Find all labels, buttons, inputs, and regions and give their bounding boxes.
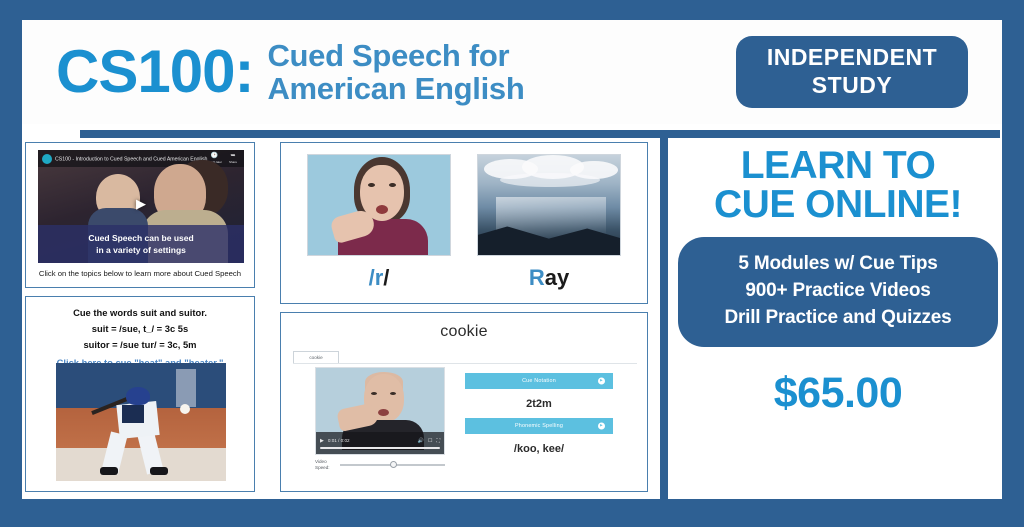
batter-shoe-left-shape bbox=[100, 467, 118, 475]
speed-label-line2: Speed: bbox=[315, 465, 337, 471]
phonemic-spelling-button[interactable]: Phonemic Spelling ▸ bbox=[465, 418, 613, 434]
fullscreen-icon[interactable]: ⛶ bbox=[436, 438, 440, 444]
badge-line1: INDEPENDENT bbox=[767, 44, 937, 72]
drill-line-1: Cue the words suit and suitor. bbox=[33, 305, 247, 321]
header-titles: CS100: Cued Speech for American English bbox=[56, 39, 525, 106]
phonemic-spelling-label: Phonemic Spelling bbox=[515, 423, 563, 429]
column-divider bbox=[660, 138, 668, 499]
word-label: Ray bbox=[477, 265, 621, 291]
cue-notation-label: Cue Notation bbox=[522, 378, 556, 384]
speed-slider-handle[interactable] bbox=[390, 461, 397, 468]
features-box: 5 Modules w/ Cue Tips 900+ Practice Vide… bbox=[678, 237, 998, 347]
header-divider bbox=[80, 130, 1000, 138]
drill-panel: Cue the words suit and suitor. suit = /s… bbox=[25, 296, 255, 492]
phonemic-spelling-answer: /koo, kee/ bbox=[465, 434, 613, 463]
speed-slider[interactable] bbox=[340, 464, 445, 466]
promo-headline-line2: CUE ONLINE! bbox=[674, 185, 1002, 224]
cookie-heading: cookie bbox=[281, 313, 647, 341]
drill-line-3: suitor = /sue tur/ = 3c, 5m bbox=[33, 337, 247, 353]
phoneme-pairs: /r/ Ray bbox=[281, 143, 647, 291]
cookie-answers: Cue Notation ▸ 2t2m Phonemic Spelling ▸ … bbox=[465, 367, 613, 470]
phoneme-label-rest: / bbox=[383, 265, 389, 290]
phoneme-example-panel: /r/ Ray bbox=[280, 142, 648, 304]
batter-helmet-shape bbox=[126, 387, 150, 405]
phoneme-label: /r/ bbox=[307, 265, 451, 291]
intro-video-hint: Click on the topics below to learn more … bbox=[26, 269, 254, 278]
cuer-mouth-shape bbox=[378, 409, 389, 416]
course-name-line1: Cued Speech for bbox=[267, 39, 524, 72]
cookie-body: ▶ 0:01 / 0:02 🔊 ☐ ⛶ bbox=[281, 367, 647, 470]
cloud-shape bbox=[500, 173, 600, 187]
word-label-rest: ay bbox=[545, 265, 569, 290]
course-code: CS100: bbox=[56, 42, 253, 102]
video-player-cookie[interactable]: ▶ 0:01 / 0:02 🔊 ☐ ⛶ bbox=[315, 367, 445, 455]
volume-icon[interactable]: 🔊 bbox=[418, 438, 424, 444]
video-timestamp: 0:01 / 0:02 bbox=[328, 438, 350, 443]
chevron-right-icon: ▸ bbox=[598, 423, 605, 430]
video-title: CS100 - Introduction to Cued Speech and … bbox=[55, 156, 244, 162]
inner-canvas: CS100: Cued Speech for American English … bbox=[22, 20, 1002, 499]
cuer-eye-right-shape bbox=[389, 183, 396, 187]
promo-headline-line1: LEARN TO bbox=[674, 146, 1002, 185]
feature-item: 5 Modules w/ Cue Tips bbox=[684, 251, 992, 278]
phoneme-label-accent: /r bbox=[369, 265, 384, 290]
drill-text-block: Cue the words suit and suitor. suit = /s… bbox=[26, 297, 254, 368]
video-controls[interactable]: ▶ 0:01 / 0:02 🔊 ☐ ⛶ bbox=[316, 432, 444, 454]
body-region: CS100 - Introduction to Cued Speech and … bbox=[22, 138, 1002, 499]
video-speed-control: Video Speed: bbox=[315, 459, 445, 470]
play-icon[interactable]: ▶ bbox=[136, 196, 146, 212]
phoneme-pair-item: Ray bbox=[477, 154, 621, 291]
baseball-shape bbox=[180, 404, 190, 414]
header: CS100: Cued Speech for American English … bbox=[22, 20, 1002, 124]
caption-line1: Cued Speech can be used bbox=[88, 232, 193, 244]
promo-card: CS100: Cued Speech for American English … bbox=[0, 0, 1024, 527]
cuer-eye-left-shape bbox=[371, 392, 377, 395]
cookie-video-wrap: ▶ 0:01 / 0:02 🔊 ☐ ⛶ bbox=[315, 367, 445, 470]
promo-headline: LEARN TO CUE ONLINE! bbox=[674, 138, 1002, 224]
independent-study-badge: INDEPENDENT STUDY bbox=[736, 36, 968, 108]
cookie-practice-panel: cookie cookie bbox=[280, 312, 648, 492]
video-control-row: ▶ 0:01 / 0:02 🔊 ☐ ⛶ bbox=[320, 438, 440, 444]
promo-column: LEARN TO CUE ONLINE! 5 Modules w/ Cue Ti… bbox=[674, 138, 1002, 499]
course-name-line2: American English bbox=[267, 72, 524, 105]
chevron-right-icon: ▸ bbox=[598, 378, 605, 385]
price-tag: $65.00 bbox=[674, 369, 1002, 418]
sun-rays-photo bbox=[477, 154, 621, 256]
video-caption: Cued Speech can be used in a variety of … bbox=[38, 225, 244, 263]
intro-video-panel: CS100 - Introduction to Cued Speech and … bbox=[25, 142, 255, 288]
word-label-accent: R bbox=[529, 265, 545, 290]
batter-shoe-right-shape bbox=[150, 467, 168, 475]
tab-underline bbox=[293, 363, 637, 364]
cue-notation-answer: 2t2m bbox=[465, 389, 613, 418]
course-name: Cued Speech for American English bbox=[267, 39, 524, 106]
feature-item: 900+ Practice Videos bbox=[684, 278, 992, 305]
cuer-photo bbox=[307, 154, 451, 256]
captions-icon[interactable]: ☐ bbox=[428, 438, 432, 444]
caption-line2: in a variety of settings bbox=[96, 244, 186, 256]
phoneme-pair-item: /r/ bbox=[307, 154, 451, 291]
drill-line-2: suit = /sue, t_/ = 3c 5s bbox=[33, 321, 247, 337]
badge-line2: STUDY bbox=[812, 72, 892, 100]
video-player-intro[interactable]: CS100 - Introduction to Cued Speech and … bbox=[38, 150, 244, 263]
baseball-photo bbox=[56, 363, 226, 481]
video-speed-label: Video Speed: bbox=[315, 459, 337, 470]
video-progress-bar[interactable] bbox=[320, 447, 440, 449]
cue-notation-button[interactable]: Cue Notation ▸ bbox=[465, 373, 613, 389]
batter-jersey-shape bbox=[122, 405, 144, 423]
background-figure-shape bbox=[176, 369, 196, 407]
cuer-eye-right-shape bbox=[390, 392, 396, 395]
cuer-eye-left-shape bbox=[368, 183, 375, 187]
feature-item: Drill Practice and Quizzes bbox=[684, 305, 992, 332]
cuer-mouth-shape bbox=[376, 205, 388, 214]
play-icon[interactable]: ▶ bbox=[320, 438, 324, 444]
channel-avatar-icon bbox=[42, 154, 52, 164]
